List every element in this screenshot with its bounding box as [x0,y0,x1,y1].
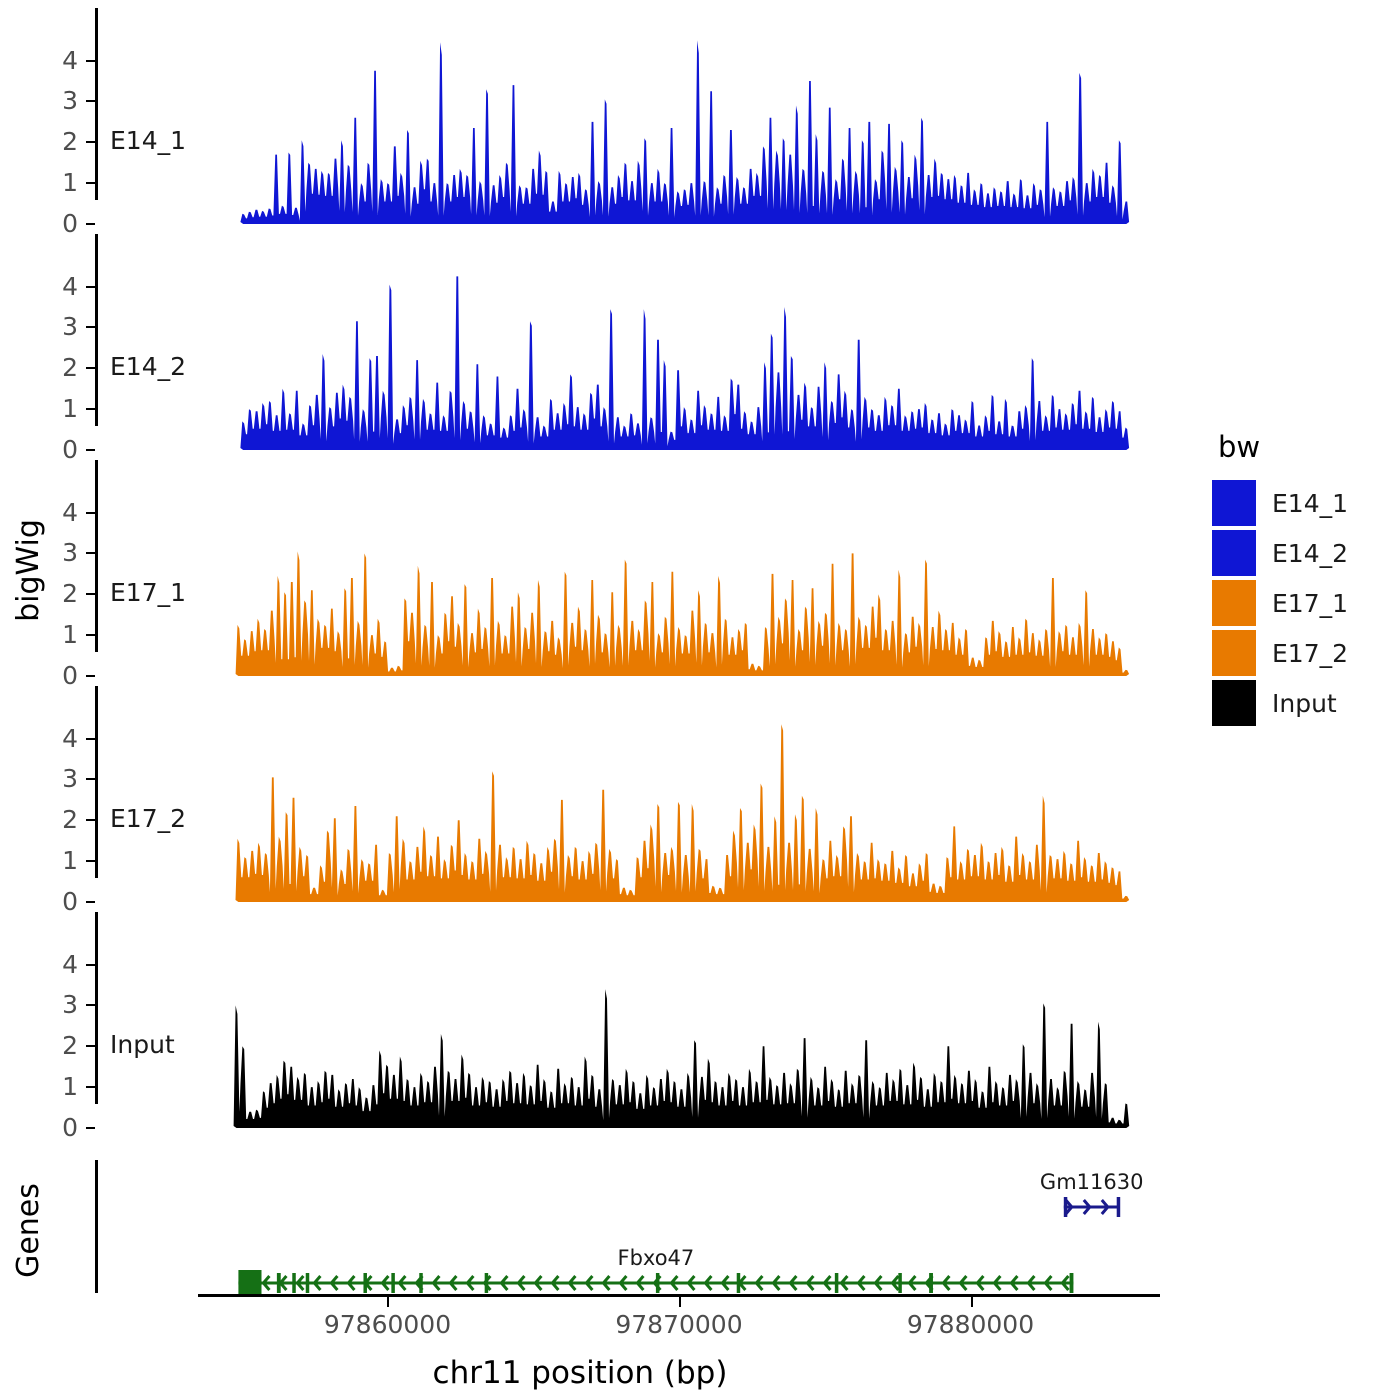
gene-exon [929,1273,933,1293]
coverage-area-e14_2 [0,226,1160,458]
y-tick-mark [86,512,95,514]
y-tick-mark [86,964,95,966]
legend-item-e14_2[interactable]: E14_2 [1212,528,1392,578]
y-tick-label: 1 [48,848,78,873]
gene-exon [363,1273,367,1293]
y-tick-mark [86,1086,95,1088]
y-tick-mark [86,738,95,740]
y-tick-mark [86,675,95,677]
coverage-polygon [236,551,1130,676]
gene-exon [306,1273,310,1293]
y-tick-mark [86,223,95,225]
y-tick-mark [86,860,95,862]
bigwig-track-e14_1: 01234E14_1 [0,0,1160,232]
y-tick-label: 4 [48,952,78,977]
y-tick-mark [86,634,95,636]
legend-label: E17_2 [1272,639,1348,668]
gene-exon [419,1273,423,1293]
gene-exon [292,1273,296,1293]
y-tick-mark [86,286,95,288]
y-tick-label: 2 [48,807,78,832]
legend-swatch [1212,580,1256,626]
gene-exon [485,1273,489,1293]
gene-exon [1070,1273,1074,1293]
track-label-e17_2: E17_2 [110,804,186,833]
legend-items: E14_1E14_2E17_1E17_2Input [1212,478,1392,728]
legend-label: Input [1272,689,1337,718]
legend-swatch [1212,680,1256,726]
coverage-area-input [0,904,1160,1136]
y-tick-mark [86,778,95,780]
coverage-polygon [240,40,1129,224]
y-tick-mark [86,100,95,102]
gene-exon [656,1273,660,1293]
y-tick-mark [86,141,95,143]
y-tick-mark [86,1045,95,1047]
legend-label: E14_1 [1272,489,1348,518]
track-label-input: Input [110,1030,175,1059]
gene-exon [835,1273,839,1293]
y-tick-mark [86,367,95,369]
y-axis-line [95,912,98,1104]
legend-swatch [1212,480,1256,526]
y-tick-mark [86,819,95,821]
y-tick-label: 4 [48,500,78,525]
legend-title: bw [1212,430,1392,464]
y-tick-label: 0 [48,1115,78,1140]
gene-label-gm11630: Gm11630 [1040,1170,1144,1194]
gene-exon [898,1273,902,1293]
y-axis-line [95,460,98,652]
y-tick-mark [86,901,95,903]
legend-swatch [1212,530,1256,576]
y-tick-label: 1 [48,622,78,647]
y-axis-line [95,686,98,878]
y-tick-mark [86,408,95,410]
y-tick-label: 1 [48,170,78,195]
track-label-e14_2: E14_2 [110,352,186,381]
legend-item-input[interactable]: Input [1212,678,1392,728]
bigwig-track-input: 01234Input [0,904,1160,1136]
genome-browser-figure: bigWig Genes 01234E14_101234E14_201234E1… [0,0,1400,1400]
x-axis-title: chr11 position (bp) [0,1355,1160,1391]
y-tick-mark [86,449,95,451]
y-tick-label: 1 [48,396,78,421]
legend-swatch [1212,630,1256,676]
y-tick-label: 4 [48,274,78,299]
track-label-e17_1: E17_1 [110,578,186,607]
y-tick-label: 4 [48,726,78,751]
coverage-area-e17_2 [0,678,1160,910]
legend-label: E17_1 [1272,589,1348,618]
gene-exon [1117,1197,1121,1217]
genes-panel: Gm11630Fbxo47 [0,1150,1200,1310]
legend: bw E14_1E14_2E17_1E17_2Input [1212,430,1392,728]
track-label-e14_1: E14_1 [110,126,186,155]
y-tick-mark [86,182,95,184]
legend-label: E14_2 [1272,539,1348,568]
y-tick-label: 2 [48,129,78,154]
gene-exon [391,1273,395,1293]
y-tick-mark [86,60,95,62]
bigwig-track-e17_2: 01234E17_2 [0,678,1160,910]
y-tick-label: 3 [48,540,78,565]
y-axis-line [95,8,98,200]
y-axis-line [95,234,98,426]
y-tick-mark [86,1004,95,1006]
gene-exon [238,1270,261,1296]
x-tick-mark [971,1297,973,1307]
x-tick-mark [679,1297,681,1307]
y-tick-mark [86,326,95,328]
y-tick-label: 4 [48,48,78,73]
y-tick-label: 2 [48,581,78,606]
y-tick-label: 1 [48,1074,78,1099]
y-tick-label: 2 [48,1033,78,1058]
x-tick-label: 97870000 [615,1310,742,1339]
y-tick-label: 3 [48,992,78,1017]
coverage-area-e17_1 [0,452,1160,684]
x-tick-mark [387,1297,389,1307]
legend-item-e17_1[interactable]: E17_1 [1212,578,1392,628]
bigwig-track-e14_2: 01234E14_2 [0,226,1160,458]
coverage-polygon [240,276,1129,450]
legend-item-e17_2[interactable]: E17_2 [1212,628,1392,678]
bigwig-track-e17_1: 01234E17_1 [0,452,1160,684]
y-tick-mark [86,593,95,595]
gene-exon [277,1273,281,1293]
gene-label-fbxo47: Fbxo47 [618,1246,695,1270]
y-tick-mark [86,552,95,554]
y-tick-label: 3 [48,314,78,339]
legend-item-e14_1[interactable]: E14_1 [1212,478,1392,528]
y-tick-mark [86,1127,95,1129]
x-tick-label: 97860000 [324,1310,451,1339]
x-tick-label: 97880000 [907,1310,1034,1339]
coverage-polygon [236,724,1130,902]
coverage-area-e14_1 [0,0,1160,232]
y-tick-label: 3 [48,88,78,113]
y-tick-label: 3 [48,766,78,791]
coverage-polygon [234,989,1130,1128]
gene-exon [737,1273,741,1293]
gene-track-svg: Gm11630Fbxo47 [0,1150,1200,1310]
gene-exon [1064,1197,1068,1217]
y-tick-label: 2 [48,355,78,380]
